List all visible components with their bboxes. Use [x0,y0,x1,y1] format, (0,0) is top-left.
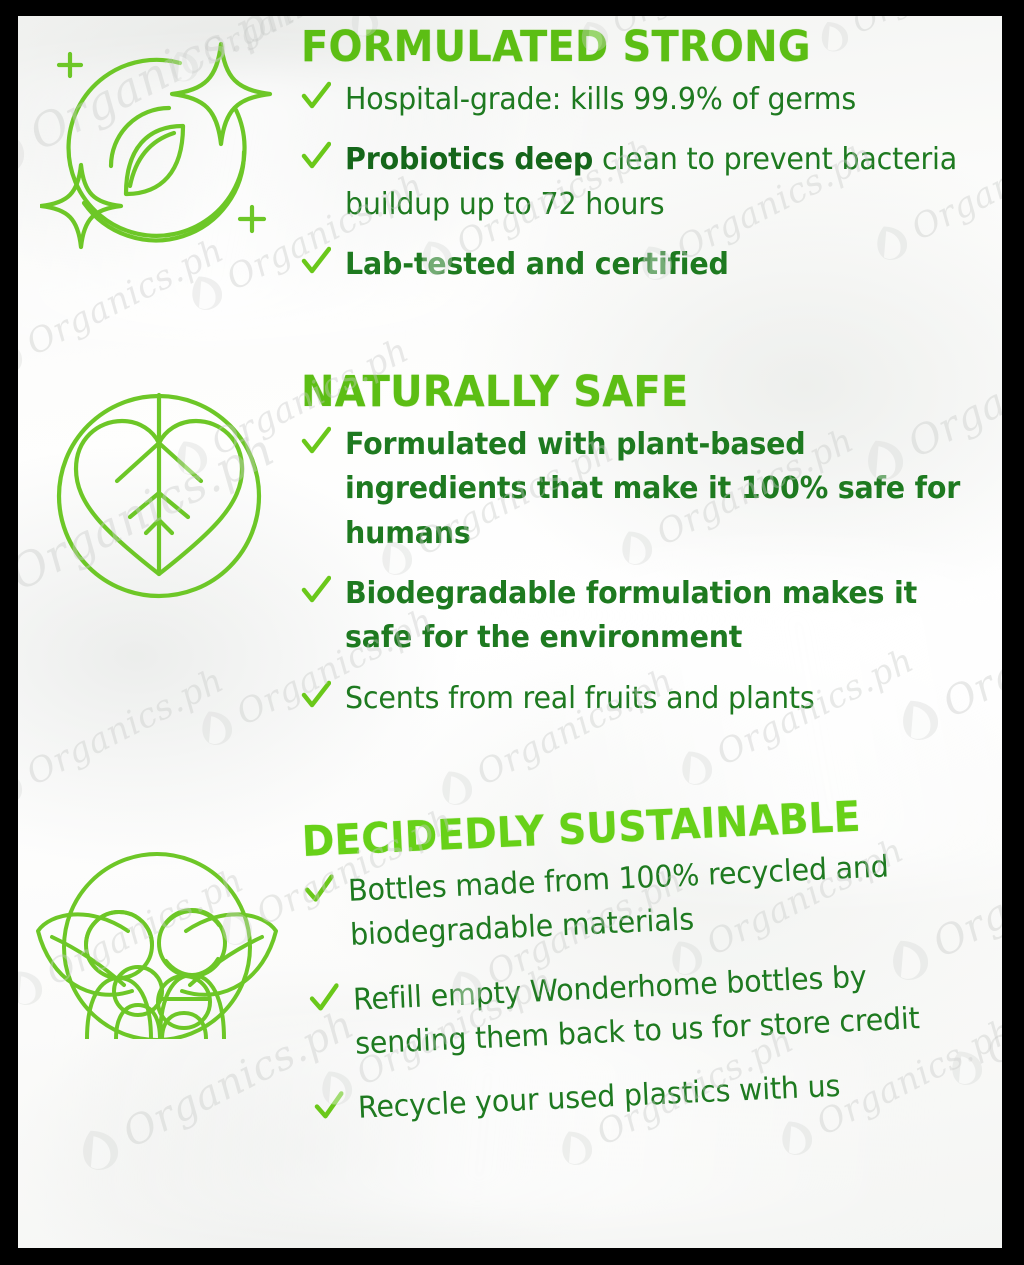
check-icon [301,140,331,174]
label-surface: FORMULATED STRONG Hospital-grade: kills … [18,16,1002,1248]
bullet-text-emphasis: Probiotics deep [345,142,593,177]
section-safe-body: NATURALLY SAFE Formulated with plant-bas… [301,371,996,735]
check-icon [303,872,335,907]
family-leaves-circle-icon [32,839,282,1039]
bullet-text: Biodegradable formulation makes it safe … [345,572,963,661]
section-title-naturally-safe: NATURALLY SAFE [301,371,947,415]
section-strong-body: FORMULATED STRONG Hospital-grade: kills … [301,26,996,301]
bullet-item: Scents from real fruits and plants [301,677,996,721]
bullet-item: Probiotics deep clean to prevent bacteri… [301,138,996,227]
bullet-item: Refill empty Wonderhome bottles by sendi… [308,949,1002,1069]
bullet-item: Biodegradable formulation makes it safe … [301,572,996,661]
bullet-text: Formulated with plant-based ingredients … [345,423,963,556]
bullet-item: Lab-tested and certified [301,243,996,287]
bullet-item: Hospital-grade: kills 99.9% of germs [301,78,996,122]
bullet-item: Formulated with plant-based ingredients … [301,423,996,556]
bullet-text: Scents from real fruits and plants [345,677,814,721]
bullet-item: Recycle your used plastics with us [313,1058,1002,1134]
check-icon [301,425,331,459]
bullet-text: Hospital-grade: kills 99.9% of germs [345,78,856,122]
check-icon [301,574,331,608]
check-icon [301,80,331,114]
check-icon [301,245,331,279]
check-icon [308,981,340,1016]
bullet-text: Refill empty Wonderhome bottles by sendi… [352,950,974,1067]
check-icon [301,679,331,713]
product-label-photo: FORMULATED STRONG Hospital-grade: kills … [0,0,1024,1265]
bullet-text: Recycle your used plastics with us [357,1065,841,1131]
bullet-text: Probiotics deep clean to prevent bacteri… [345,138,963,227]
section-title-formulated-strong: FORMULATED STRONG [301,26,947,70]
bullet-text: Lab-tested and certified [345,243,729,287]
heart-leaf-circle-icon [44,381,274,611]
check-icon [313,1090,345,1125]
sparkle-leaf-circle-icon [40,34,280,279]
section-sustainable-body: DECIDEDLY SUSTAINABLE Bottles made from … [301,789,1002,1147]
